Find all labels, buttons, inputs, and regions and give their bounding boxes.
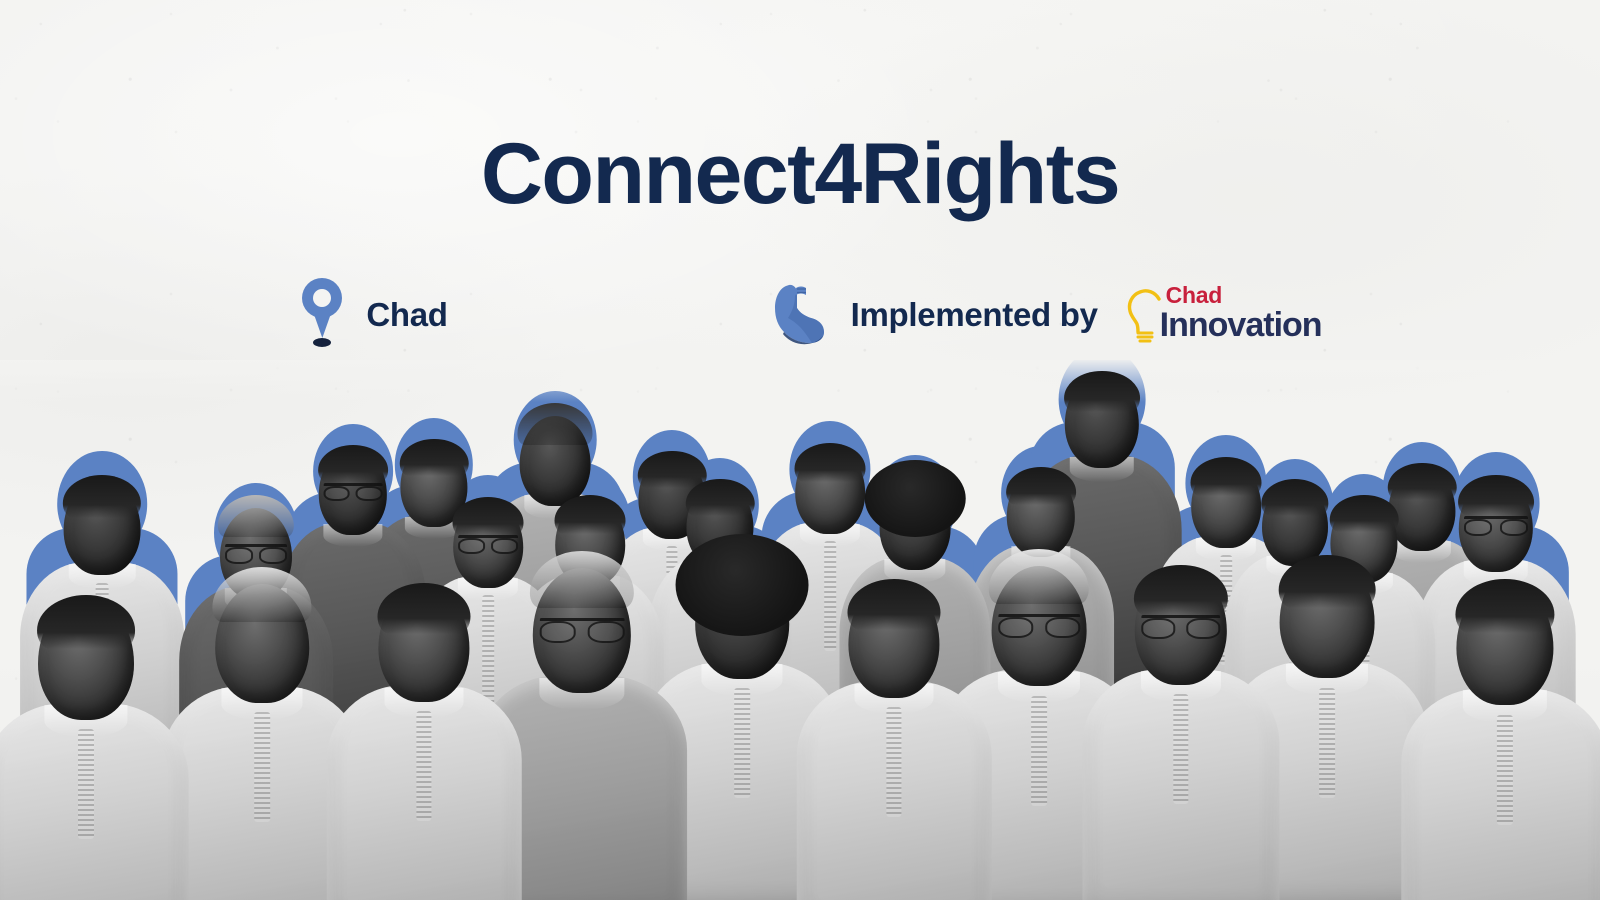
photo-person [348, 586, 500, 900]
person-hair [1455, 579, 1554, 633]
person-hair [686, 479, 755, 516]
robe-placket [734, 688, 750, 798]
robe-placket [1031, 696, 1047, 806]
person-glasses [458, 535, 518, 550]
robe-placket [886, 707, 901, 817]
person-hair [37, 595, 135, 649]
person-hair [1064, 371, 1140, 412]
person-hair [453, 497, 524, 536]
person-glasses [225, 544, 287, 560]
photo-person [1104, 568, 1258, 888]
location-pin-icon [300, 278, 344, 352]
person-hair [1134, 565, 1228, 616]
photo-person [818, 582, 970, 900]
person-hair [555, 495, 626, 534]
person-hair [63, 475, 141, 518]
robe-placket [254, 712, 270, 822]
person-glasses [1141, 615, 1220, 635]
group-photo [0, 360, 1600, 900]
person-glasses [324, 483, 383, 498]
person-hair [318, 445, 388, 483]
person-hair [795, 443, 866, 482]
implemented-by-label: Implemented by [851, 296, 1098, 334]
logo-line-chad: Chad [1166, 284, 1322, 307]
meta-row: Chad Implemented by [0, 278, 1600, 352]
pin-shadow-dot [313, 338, 331, 347]
logo-line-innovation: Innovation [1160, 308, 1322, 343]
robe-placket [1319, 688, 1335, 798]
person-glasses [540, 618, 625, 639]
photo-person [1424, 582, 1586, 900]
robe-placket [78, 729, 94, 839]
person-hair [847, 579, 940, 630]
slide-canvas: Connect4Rights Chad [0, 0, 1600, 900]
photo-person [184, 584, 340, 900]
implementer-group: Implemented by Chad Innovation [766, 282, 1300, 348]
person-hair-afro [865, 460, 966, 537]
person-hair-afro [676, 534, 809, 636]
location-label: Chad [366, 296, 447, 334]
location-group: Chad [300, 278, 447, 352]
person-hair [1279, 555, 1376, 608]
robe-placket [416, 711, 431, 821]
person-hair [1330, 495, 1399, 532]
page-title: Connect4Rights [0, 131, 1600, 217]
flexed-bicep-icon [766, 282, 828, 348]
person-hair [1006, 467, 1076, 505]
photo-person [6, 598, 166, 900]
robe-placket [1173, 694, 1188, 804]
robe-placket [1497, 715, 1513, 825]
person-hair [377, 583, 470, 634]
person-glasses [1464, 516, 1528, 532]
person-hair [400, 439, 469, 476]
person-hair [1458, 475, 1534, 516]
photo-person [500, 568, 664, 888]
photo-top-fade [0, 360, 1600, 402]
person-glasses [998, 614, 1080, 634]
chad-innovation-logo: Chad Innovation [1122, 284, 1300, 346]
